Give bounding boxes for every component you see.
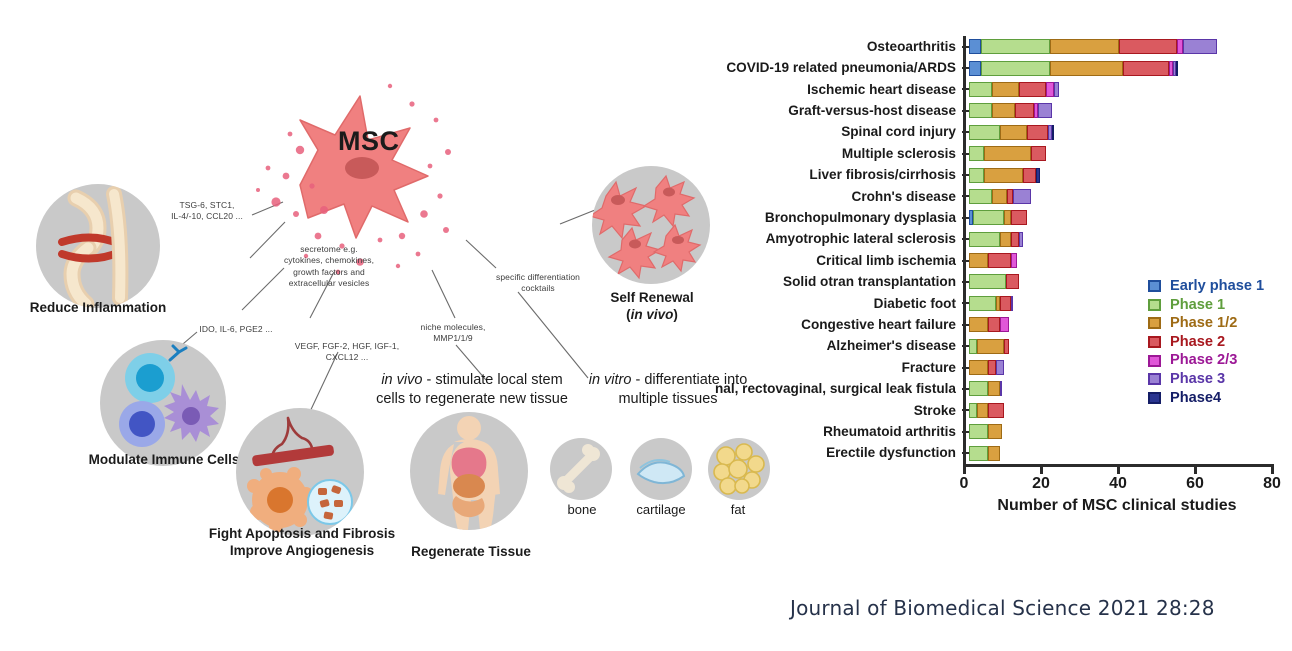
msc-title: MSC [338, 126, 400, 157]
x-axis-tick [1117, 467, 1120, 474]
bar-segment-phase-1-2 [969, 253, 988, 268]
bar-segment-phase-2 [1027, 125, 1048, 140]
annotation-tsg6-line1: TSG-6, STC1, [152, 200, 262, 211]
y-axis-tick [962, 153, 969, 155]
bar-segment-phase-2 [1123, 61, 1169, 76]
chart-category-label: Spinal cord injury [660, 125, 962, 139]
bar-segment-phase-2 [1019, 82, 1046, 97]
bar-segment-phase-2 [1006, 274, 1019, 289]
bar-segment-phase-1-2 [984, 146, 1030, 161]
bar-segment-phase-2 [1011, 210, 1026, 225]
bar-segment-phase-2 [988, 360, 996, 375]
legend-item[interactable]: Phase 1/2 [1148, 314, 1264, 333]
x-axis-tick-label: 40 [1109, 475, 1127, 493]
bar-segment-phase-1 [969, 424, 988, 439]
y-axis-tick [962, 260, 969, 262]
journal-citation: Journal of Biomedical Science 2021 28:28 [790, 596, 1215, 620]
legend-swatch [1148, 299, 1161, 311]
bar-segment-phase-1 [969, 146, 984, 161]
bar-segment-phase-1 [969, 232, 1000, 247]
y-axis-tick [962, 110, 969, 112]
caption-fight-apoptosis: Fight Apoptosis and Fibrosis Improve Ang… [192, 526, 412, 560]
legend-item[interactable]: Early phase 1 [1148, 277, 1264, 296]
bar-segment-early-phase-1 [969, 61, 981, 76]
chart-category-label: Bronchopulmonary dysplasia [660, 211, 962, 225]
bar-segment-phase-1 [981, 61, 1050, 76]
stacked-bar [969, 210, 1027, 225]
chart-category-label: Ischemic heart disease [660, 83, 962, 97]
bar-segment-phase-1 [969, 403, 977, 418]
y-axis-tick [962, 431, 969, 433]
bar-segment-phase-1-2 [969, 360, 988, 375]
label-bone: bone [552, 502, 612, 519]
bar-segment-phase4 [1176, 61, 1178, 76]
stacked-bar [969, 403, 1004, 418]
caption-reduce-inflammation: Reduce Inflammation [6, 300, 190, 317]
chart-row: Amyotrophic lateral sclerosis [660, 229, 1292, 250]
chart-row: Spinal cord injury [660, 122, 1292, 143]
bar-segment-phase-1-2 [1050, 61, 1123, 76]
annotation-ido: IDO, IL-6, PGE2 ... [176, 324, 296, 335]
caption-fight-apoptosis-line2: Improve Angiogenesis [192, 543, 412, 560]
legend-swatch [1148, 373, 1161, 385]
bar-segment-phase-2 [1011, 232, 1019, 247]
bone-icon [550, 438, 612, 500]
x-axis-tick [1040, 467, 1043, 474]
y-axis-tick [962, 195, 969, 197]
x-axis-tick-label: 20 [1032, 475, 1050, 493]
bar-segment-phase-1-2 [977, 339, 1004, 354]
stacked-bar [969, 274, 1019, 289]
bar-segment-phase-1-2 [984, 168, 1023, 183]
stacked-bar [969, 446, 1000, 461]
stacked-bar [969, 296, 1013, 311]
chart-category-label: Graft-versus-host disease [660, 104, 962, 118]
y-axis-tick [962, 367, 969, 369]
legend-item[interactable]: Phase 3 [1148, 370, 1264, 389]
y-axis-tick [962, 452, 969, 454]
bar-segment-early-phase-1 [969, 39, 981, 54]
bar-segment-phase-1-2 [977, 403, 989, 418]
stacked-bar [969, 82, 1059, 97]
legend-item[interactable]: Phase 2/3 [1148, 351, 1264, 370]
bar-segment-phase-2 [1119, 39, 1177, 54]
bar-segment-phase-2 [1015, 103, 1034, 118]
bar-segment-phase-2-3 [1011, 253, 1017, 268]
chart-category-label: Congestive heart failure [660, 318, 962, 332]
bar-segment-phase-1-2 [992, 103, 1015, 118]
bar-segment-phase-1-2 [1004, 210, 1012, 225]
bar-segment-phase-3 [1000, 381, 1002, 396]
bar-segment-phase-3 [1054, 82, 1060, 97]
stacked-bar [969, 189, 1031, 204]
bar-segment-phase4 [1052, 125, 1054, 140]
y-axis-tick [962, 409, 969, 411]
legend-swatch [1148, 392, 1161, 404]
bar-segment-phase-3 [1038, 103, 1051, 118]
chart-row: Crohn's disease [660, 186, 1292, 207]
legend-swatch [1148, 280, 1161, 292]
chart-row: Erectile dysfunction [660, 442, 1292, 463]
annotation-secretome: secretome e.g. cytokines, chemokines, gr… [264, 244, 394, 290]
chart-row: Osteoarthritis [660, 36, 1292, 57]
chart-category-label: Stroke [660, 404, 962, 418]
bar-segment-phase-2-3 [1000, 317, 1010, 332]
bar-segment-phase-3 [1013, 189, 1030, 204]
chart-category-label: Osteoarthritis [660, 40, 962, 54]
regenerate-tissue-icon [410, 412, 528, 530]
label-cartilage: cartilage [626, 502, 696, 519]
chart-category-label: Liver fibrosis/cirrhosis [660, 168, 962, 182]
y-axis-tick [962, 131, 969, 133]
stacked-bar [969, 61, 1178, 76]
bar-segment-phase-1 [973, 210, 1004, 225]
y-axis-tick [962, 46, 969, 48]
caption-modulate-immune-cells: Modulate Immune Cells [72, 452, 256, 469]
y-axis-tick [962, 302, 969, 304]
stacked-bar [969, 168, 1040, 183]
chart-category-label: COVID-19 related pneumonia/ARDS [660, 61, 962, 75]
stacked-bar [969, 146, 1046, 161]
bar-segment-phase-2 [988, 253, 1011, 268]
bar-segment-phase-1-2 [992, 189, 1007, 204]
bar-segment-phase-1 [969, 189, 992, 204]
chart-row: Rheumatoid arthritis [660, 421, 1292, 442]
chart-category-label: Amyotrophic lateral sclerosis [660, 232, 962, 246]
stacked-bar [969, 360, 1004, 375]
chart-legend: Early phase 1Phase 1Phase 1/2Phase 2Phas… [1148, 277, 1264, 407]
bar-segment-phase-3 [1019, 232, 1023, 247]
bar-segment-phase-1 [969, 274, 1006, 289]
y-axis-tick [962, 345, 969, 347]
label-fat: fat [706, 502, 770, 519]
chart-row: Critical limb ischemia [660, 250, 1292, 271]
y-axis-tick [962, 67, 969, 69]
stacked-bar [969, 381, 1002, 396]
bar-segment-phase4 [1036, 168, 1040, 183]
bar-segment-phase-1 [969, 339, 977, 354]
bar-segment-phase-1-2 [988, 381, 1000, 396]
chart-category-label: Alzheimer's disease [660, 339, 962, 353]
bar-segment-phase-1 [969, 82, 992, 97]
stacked-bar [969, 39, 1217, 54]
legend-label: Phase 1 [1170, 298, 1225, 313]
legend-label: Phase 3 [1170, 372, 1225, 387]
stacked-bar [969, 103, 1052, 118]
bar-segment-phase-2 [1004, 339, 1010, 354]
legend-item[interactable]: Phase4 [1148, 389, 1264, 408]
bar-segment-phase-1 [969, 103, 992, 118]
fight-apoptosis-icon [236, 408, 364, 536]
legend-label: Early phase 1 [1170, 279, 1264, 294]
msc-clinical-studies-chart: OsteoarthritisCOVID-19 related pneumonia… [660, 22, 1292, 492]
legend-label: Phase4 [1170, 391, 1221, 406]
bar-segment-phase-3 [996, 360, 1004, 375]
bar-segment-phase-3 [1183, 39, 1218, 54]
legend-item[interactable]: Phase 2 [1148, 333, 1264, 352]
x-axis-tick-label: 60 [1186, 475, 1204, 493]
stacked-bar [969, 253, 1017, 268]
chart-category-label: Rheumatoid arthritis [660, 425, 962, 439]
chart-category-label: Erectile dysfunction [660, 446, 962, 460]
chart-row: Multiple sclerosis [660, 143, 1292, 164]
bar-segment-phase-1 [969, 296, 996, 311]
bar-segment-phase-1-2 [1000, 125, 1027, 140]
stacked-bar [969, 339, 1009, 354]
chart-row: Graft-versus-host disease [660, 100, 1292, 121]
x-axis-tick [1271, 467, 1274, 474]
bar-segment-phase-1-2 [1000, 232, 1012, 247]
bar-segment-phase-1-2 [992, 82, 1019, 97]
annotation-tsg6: TSG-6, STC1, IL-4/-10, CCL20 ... [152, 200, 262, 223]
legend-swatch [1148, 336, 1161, 348]
chart-row: COVID-19 related pneumonia/ARDS [660, 57, 1292, 78]
bar-segment-phase-3 [1011, 296, 1013, 311]
y-axis-tick [962, 388, 969, 390]
bar-segment-phase-1 [969, 125, 1000, 140]
legend-label: Phase 2 [1170, 335, 1225, 350]
stacked-bar [969, 125, 1054, 140]
caption-regenerate-tissue: Regenerate Tissue [396, 544, 546, 561]
bar-segment-phase-2 [1023, 168, 1036, 183]
bar-segment-phase-2 [988, 403, 1003, 418]
chart-category-label: Solid otran transplantation [660, 275, 962, 289]
bar-segment-phase-2 [1031, 146, 1046, 161]
y-axis-tick [962, 217, 969, 219]
bar-segment-phase-1 [969, 168, 984, 183]
bar-segment-phase-1 [969, 381, 988, 396]
bar-segment-phase-2-3 [1046, 82, 1054, 97]
y-axis-tick [962, 324, 969, 326]
x-axis-tick-label: 0 [960, 475, 969, 493]
legend-item[interactable]: Phase 1 [1148, 296, 1264, 315]
msc-cell-illustration [300, 96, 428, 238]
y-axis-tick [962, 174, 969, 176]
bar-segment-phase-1 [981, 39, 1050, 54]
legend-swatch [1148, 355, 1161, 367]
annotation-in-vivo: in vivo - stimulate local stem cells to … [372, 371, 572, 409]
x-axis-tick [1194, 467, 1197, 474]
legend-swatch [1148, 317, 1161, 329]
legend-label: Phase 1/2 [1170, 316, 1237, 331]
bar-segment-phase-1-2 [988, 446, 1000, 461]
stacked-bar [969, 232, 1023, 247]
annotation-cocktails: specific differentiation cocktails [470, 272, 606, 295]
chart-row: Bronchopulmonary dysplasia [660, 207, 1292, 228]
stacked-bar [969, 424, 1002, 439]
chart-row: Ischemic heart disease [660, 79, 1292, 100]
chart-category-label: nal, rectovaginal, surgical leak fistula [660, 382, 962, 396]
caption-fight-apoptosis-line1: Fight Apoptosis and Fibrosis [192, 526, 412, 543]
x-axis-tick [963, 467, 966, 474]
bar-segment-phase-2 [988, 317, 1000, 332]
y-axis-tick [962, 88, 969, 90]
stacked-bar [969, 317, 1009, 332]
chart-category-label: Critical limb ischemia [660, 254, 962, 268]
chart-row: Liver fibrosis/cirrhosis [660, 164, 1292, 185]
bar-segment-phase-1-2 [988, 424, 1001, 439]
modulate-immune-cells-icon [100, 340, 226, 466]
bar-segment-phase-1-2 [1050, 39, 1119, 54]
y-axis-tick [962, 238, 969, 240]
annotation-tsg6-line2: IL-4/-10, CCL20 ... [152, 211, 262, 222]
annotation-niche: niche molecules, MMP1/1/9 [398, 322, 508, 345]
chart-category-label: Multiple sclerosis [660, 147, 962, 161]
bar-segment-phase-1-2 [969, 317, 988, 332]
chart-category-label: Diabetic foot [660, 297, 962, 311]
x-axis-tick-label: 80 [1263, 475, 1281, 493]
chart-category-label: Crohn's disease [660, 190, 962, 204]
y-axis-tick [962, 281, 969, 283]
reduce-inflammation-icon [36, 184, 160, 308]
bar-segment-phase-1 [969, 446, 988, 461]
bar-segment-phase-2 [1000, 296, 1012, 311]
chart-category-label: Fracture [660, 361, 962, 375]
x-axis-title: Number of MSC clinical studies [963, 497, 1271, 515]
legend-label: Phase 2/3 [1170, 353, 1237, 368]
